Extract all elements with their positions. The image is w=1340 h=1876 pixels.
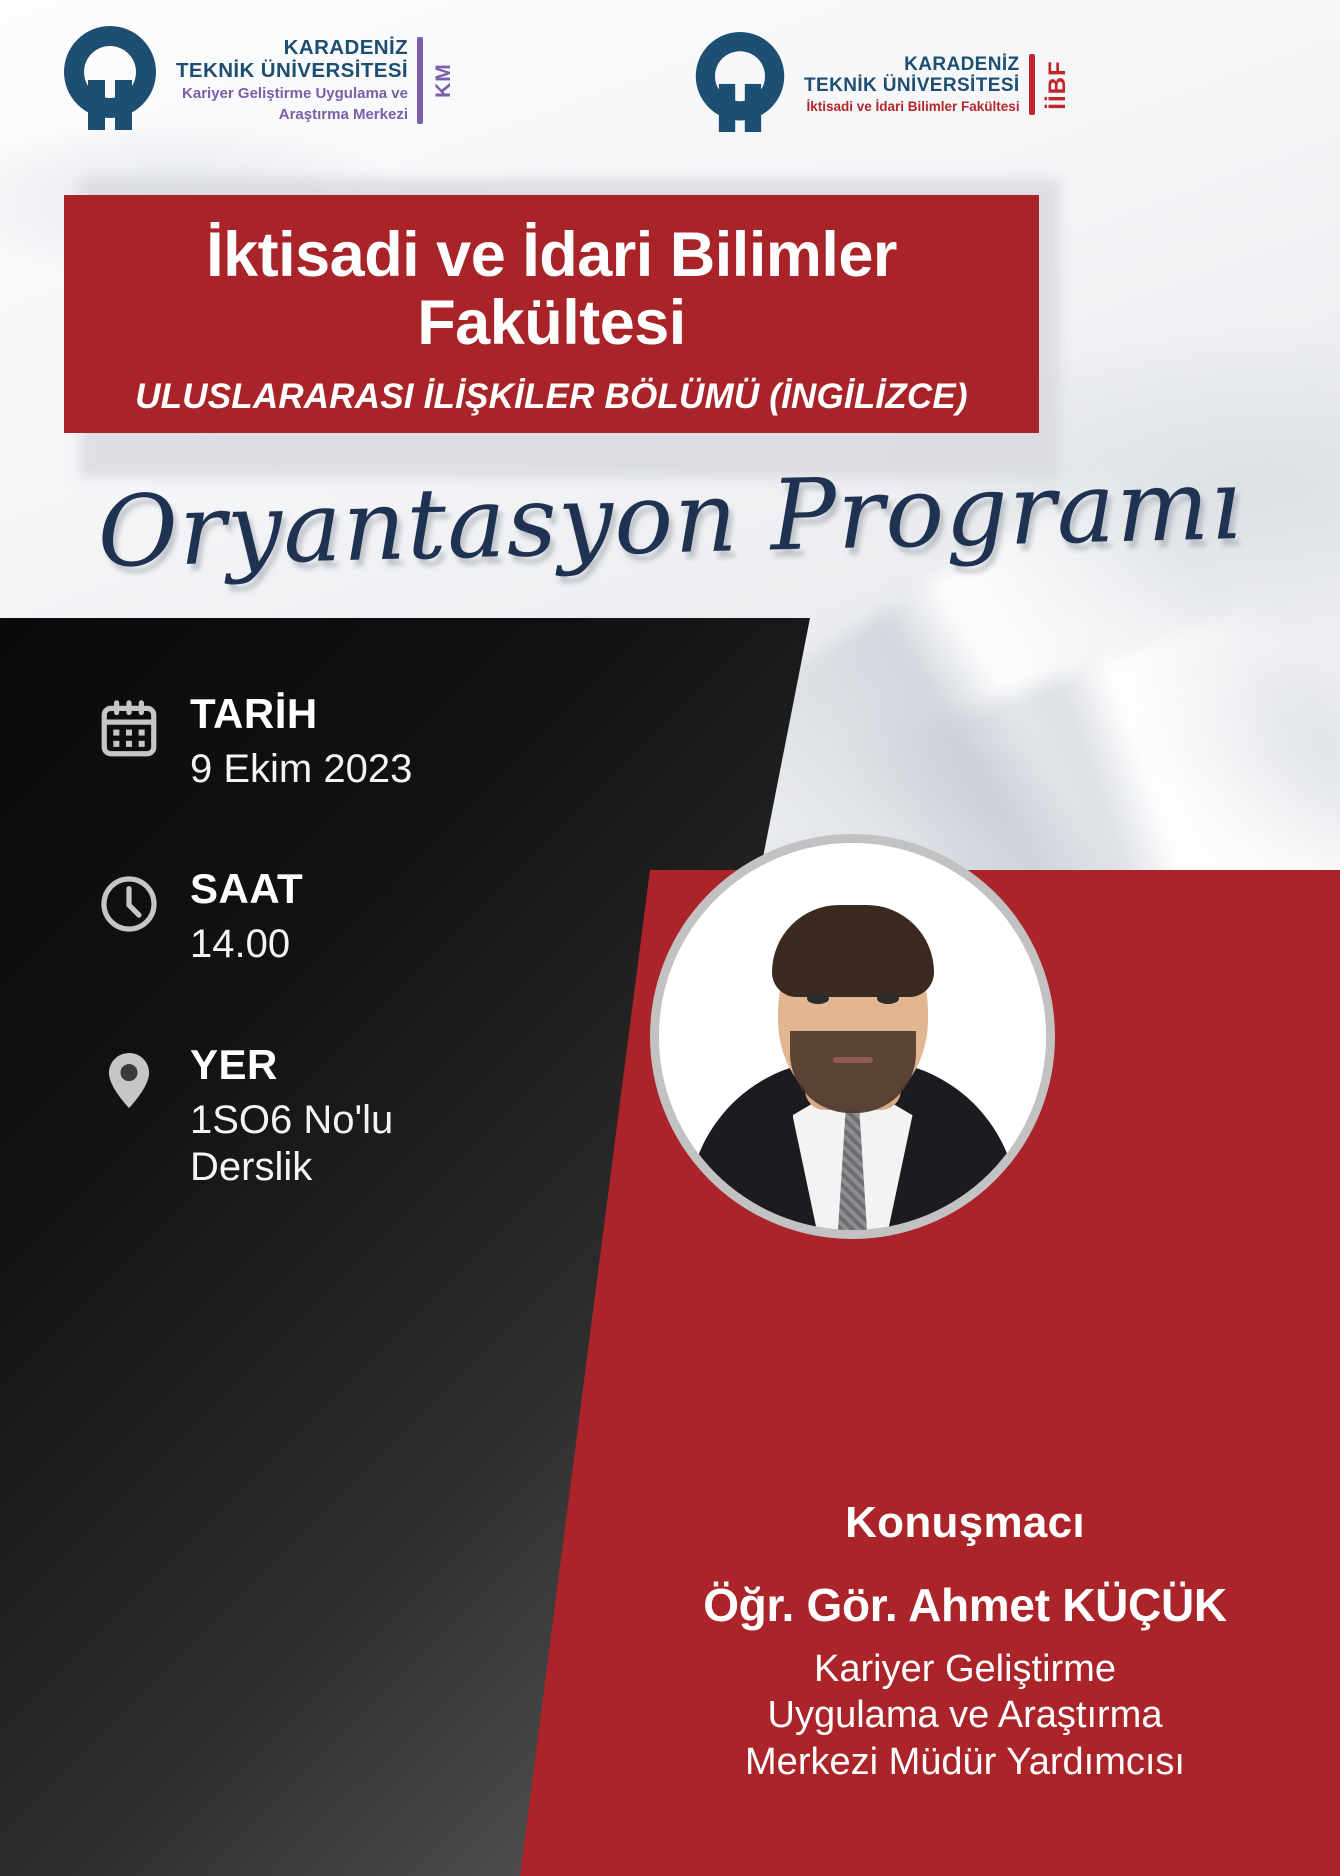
speaker-name: Öğr. Gör. Ahmet KÜÇÜK xyxy=(620,1578,1310,1632)
ktu-logo-icon xyxy=(58,22,162,139)
logo-right-line1: KARADENİZ xyxy=(804,54,1020,75)
portrait-brow-left xyxy=(801,977,833,984)
header-logos: KARADENİZ TEKNİK ÜNİVERSİTESİ Kariyer Ge… xyxy=(0,0,1340,168)
location-pin-icon xyxy=(96,1041,162,1118)
logo-left-sub2: Araştırma Merkezi xyxy=(176,106,408,124)
portrait-mouth xyxy=(833,1057,873,1063)
logo-left-sub1: Kariyer Geliştirme Uygulama ve xyxy=(176,85,408,103)
portrait-brow-right xyxy=(873,977,905,984)
faculty-title: İktisadi ve İdari Bilimler Fakültesi xyxy=(90,221,1013,357)
speaker-photo xyxy=(659,843,1046,1230)
logo-left-words: KARADENİZ TEKNİK ÜNİVERSİTESİ Kariyer Ge… xyxy=(176,37,408,125)
portrait-hair xyxy=(772,905,934,997)
ktu-logo-icon xyxy=(690,28,790,141)
detail-label-date: TARİH xyxy=(190,690,318,737)
speaker-role: Konuşmacı xyxy=(620,1498,1310,1548)
logo-right-divider xyxy=(1029,54,1035,116)
logo-ktu-iibf: KARADENİZ TEKNİK ÜNİVERSİTESİ İktisadi v… xyxy=(690,28,1072,141)
department-subtitle: ULUSLARARASI İLİŞKİLER BÖLÜMÜ (İNGİLİZCE… xyxy=(90,377,1013,417)
detail-text-place: YER 1SO6 No'lu Derslik xyxy=(190,1041,393,1191)
logo-left-divider xyxy=(417,37,423,125)
logo-ktu-career-center: KARADENİZ TEKNİK ÜNİVERSİTESİ Kariyer Ge… xyxy=(58,22,456,139)
detail-row-date: TARİH 9 Ekim 2023 xyxy=(96,690,566,793)
detail-row-time: SAAT 14.00 xyxy=(96,865,566,968)
calendar-icon xyxy=(96,690,162,767)
clock-icon xyxy=(96,865,162,942)
detail-value-time: 14.00 xyxy=(190,921,303,968)
logo-left-text: KARADENİZ TEKNİK ÜNİVERSİTESİ Kariyer Ge… xyxy=(176,37,456,125)
speaker-affiliation: Kariyer Geliştirme Uygulama ve Araştırma… xyxy=(620,1646,1310,1785)
event-details-list: TARİH 9 Ekim 2023 SAAT 14.00 xyxy=(96,690,566,1263)
detail-text-date: TARİH 9 Ekim 2023 xyxy=(190,690,412,793)
speaker-info: Konuşmacı Öğr. Gör. Ahmet KÜÇÜK Kariyer … xyxy=(620,1498,1310,1785)
logo-left-line2: TEKNİK ÜNİVERSİTESİ xyxy=(176,60,408,83)
logo-right-text: KARADENİZ TEKNİK ÜNİVERSİTESİ İktisadi v… xyxy=(804,54,1072,116)
logo-right-sub1: İktisadi ve İdari Bilimler Fakültesi xyxy=(804,99,1020,115)
portrait-eye-left xyxy=(807,993,829,1004)
logo-right-abbr: İİBF xyxy=(1044,54,1072,116)
logo-left-abbr: KM xyxy=(432,37,456,125)
detail-text-time: SAAT 14.00 xyxy=(190,865,303,968)
logo-left-line1: KARADENİZ xyxy=(176,37,408,60)
poster-canvas: KARADENİZ TEKNİK ÜNİVERSİTESİ Kariyer Ge… xyxy=(0,0,1340,1876)
logo-right-line2: TEKNİK ÜNİVERSİTESİ xyxy=(804,75,1020,96)
detail-label-place: YER xyxy=(190,1041,278,1088)
portrait-eye-right xyxy=(877,993,899,1004)
detail-value-place: 1SO6 No'lu Derslik xyxy=(190,1097,393,1191)
detail-label-time: SAAT xyxy=(190,865,303,912)
logo-right-words: KARADENİZ TEKNİK ÜNİVERSİTESİ İktisadi v… xyxy=(804,54,1020,116)
detail-row-place: YER 1SO6 No'lu Derslik xyxy=(96,1041,566,1191)
faculty-title-banner: İktisadi ve İdari Bilimler Fakültesi ULU… xyxy=(64,195,1039,433)
detail-value-date: 9 Ekim 2023 xyxy=(190,746,412,793)
speaker-portrait xyxy=(650,834,1055,1239)
